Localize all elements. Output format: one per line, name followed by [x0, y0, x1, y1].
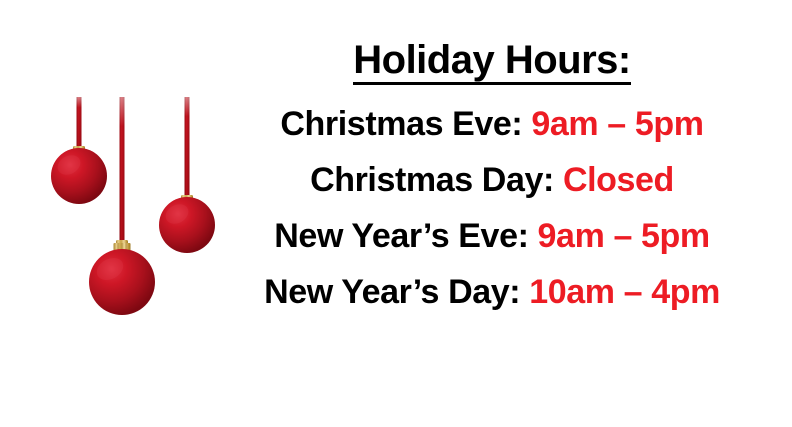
christmas-ornaments-graphic: [0, 0, 240, 427]
hours-row-christmas-eve: Christmas Eve: 9am – 5pm: [212, 107, 772, 141]
holiday-hours-text-block: Holiday Hours: Christmas Eve: 9am – 5pm …: [212, 40, 772, 380]
hours-row-new-years-day: New Year’s Day: 10am – 4pm: [212, 275, 772, 309]
hours-row-christmas-day: Christmas Day: Closed: [212, 163, 772, 197]
page-title-text: Holiday Hours:: [353, 40, 630, 85]
hours-value: 9am – 5pm: [531, 105, 703, 143]
ornament-center: [89, 240, 155, 315]
hours-label: Christmas Day:: [310, 161, 554, 199]
hours-value: Closed: [563, 161, 674, 199]
holiday-hours-poster: Holiday Hours: Christmas Eve: 9am – 5pm …: [0, 0, 792, 427]
page-title: Holiday Hours:: [212, 40, 772, 85]
hours-value: 9am – 5pm: [538, 217, 710, 255]
ornament-left: [51, 146, 107, 204]
hours-label: New Year’s Day:: [264, 273, 520, 311]
hours-list: Christmas Eve: 9am – 5pm Christmas Day: …: [212, 107, 772, 309]
hours-row-new-years-eve: New Year’s Eve: 9am – 5pm: [212, 219, 772, 253]
hours-label: Christmas Eve:: [280, 105, 522, 143]
ornament-right: [159, 195, 215, 253]
hours-label: New Year’s Eve:: [274, 217, 528, 255]
hours-value: 10am – 4pm: [529, 273, 720, 311]
